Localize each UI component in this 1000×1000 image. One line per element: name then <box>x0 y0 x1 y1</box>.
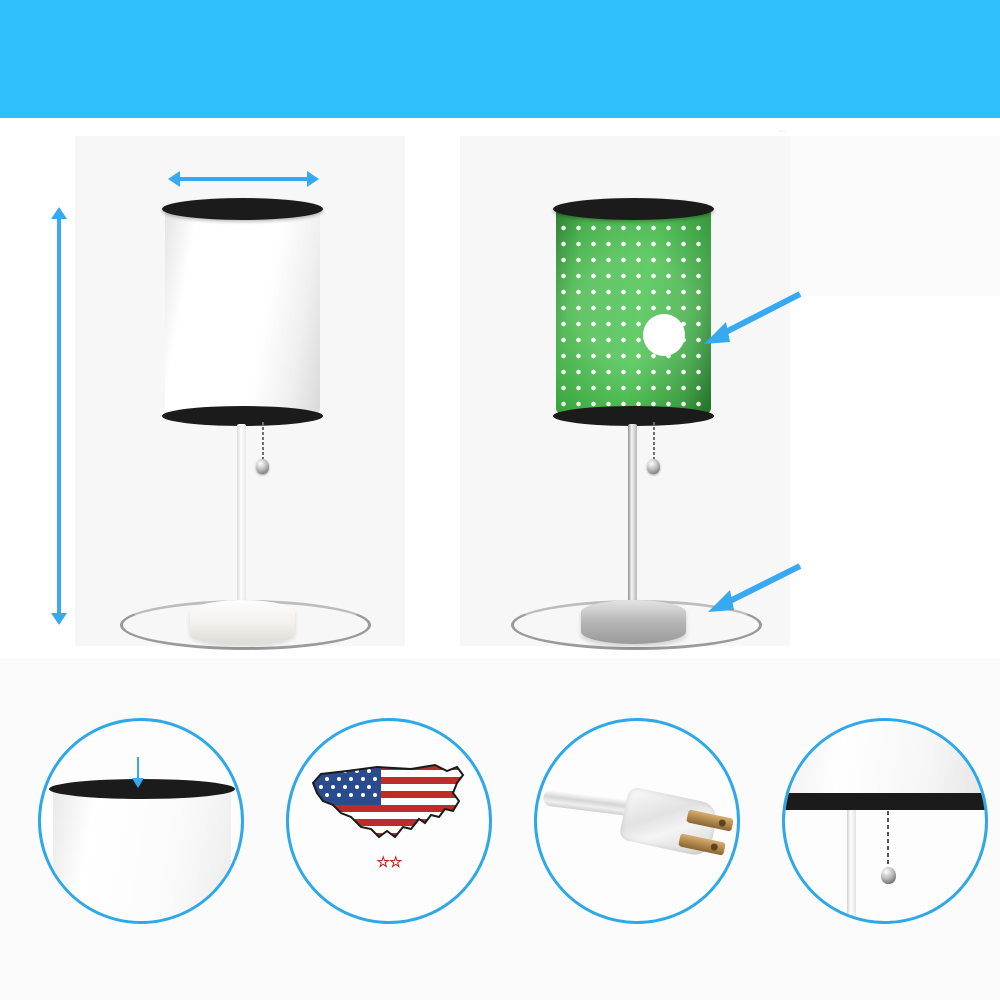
white-lamp-base <box>190 600 295 644</box>
feature-button-chain <box>887 811 889 869</box>
feature-highlights: ☆☆ <box>0 718 1000 1000</box>
green-shade-surface <box>556 204 711 414</box>
green-lamp-pull-chain <box>653 422 655 462</box>
feature-button-knob[interactable] <box>881 867 896 884</box>
usa-star-right-icon: ☆ <box>389 854 401 871</box>
plug-prong-hole <box>710 843 718 851</box>
usa-badge: ☆☆ <box>289 721 489 921</box>
trim-colors-title <box>778 130 786 132</box>
feature-plug-circle <box>534 718 740 924</box>
green-lamp-base <box>581 600 686 644</box>
width-dimension-arrow <box>179 177 308 181</box>
white-shade-top-trim <box>162 198 323 220</box>
trim-colors-pointer-arrow <box>696 288 806 348</box>
white-lamp-pull-knob <box>256 459 269 474</box>
white-lamp-shade <box>165 204 320 414</box>
white-lamp-pole <box>237 424 246 609</box>
feature-trim-pointer-arrow <box>137 757 139 779</box>
green-lamp-pole <box>628 424 637 609</box>
feature-button-pole <box>847 810 856 924</box>
backdrop-strip-right <box>790 136 1000 296</box>
usa-flag-map-icon <box>307 757 473 849</box>
base-finish-pointer-arrow <box>700 558 810 618</box>
white-shade-bottom-trim <box>162 406 323 426</box>
brand-logo <box>0 660 1000 712</box>
usa-badge-title: ☆☆ <box>289 841 489 880</box>
add-design-plus-icon[interactable] <box>643 314 685 356</box>
white-shade-surface <box>165 204 320 414</box>
feature-trim-colors-circle <box>38 718 244 924</box>
feature-button-shade <box>782 721 988 795</box>
lamp-showcase <box>0 118 1000 658</box>
plug-prong-hole <box>718 819 726 827</box>
green-shade-top-trim <box>553 198 714 220</box>
feature-shade-body <box>53 789 231 924</box>
green-shade-bottom-trim <box>553 406 714 426</box>
green-lamp-pull-knob <box>647 459 660 474</box>
height-dimension-arrow <box>57 218 61 614</box>
green-lamp-shade <box>556 204 711 414</box>
plug-cord <box>542 789 635 816</box>
feature-button-trim <box>782 793 988 810</box>
feature-made-in-usa-circle: ☆☆ <box>286 718 492 924</box>
product-detail-page: ☆☆ <box>0 0 1000 1000</box>
white-lamp-pull-chain <box>262 422 264 462</box>
page-header-banner <box>0 0 1000 118</box>
usa-star-left-icon: ☆ <box>377 854 389 871</box>
feature-button-circle <box>782 718 988 924</box>
